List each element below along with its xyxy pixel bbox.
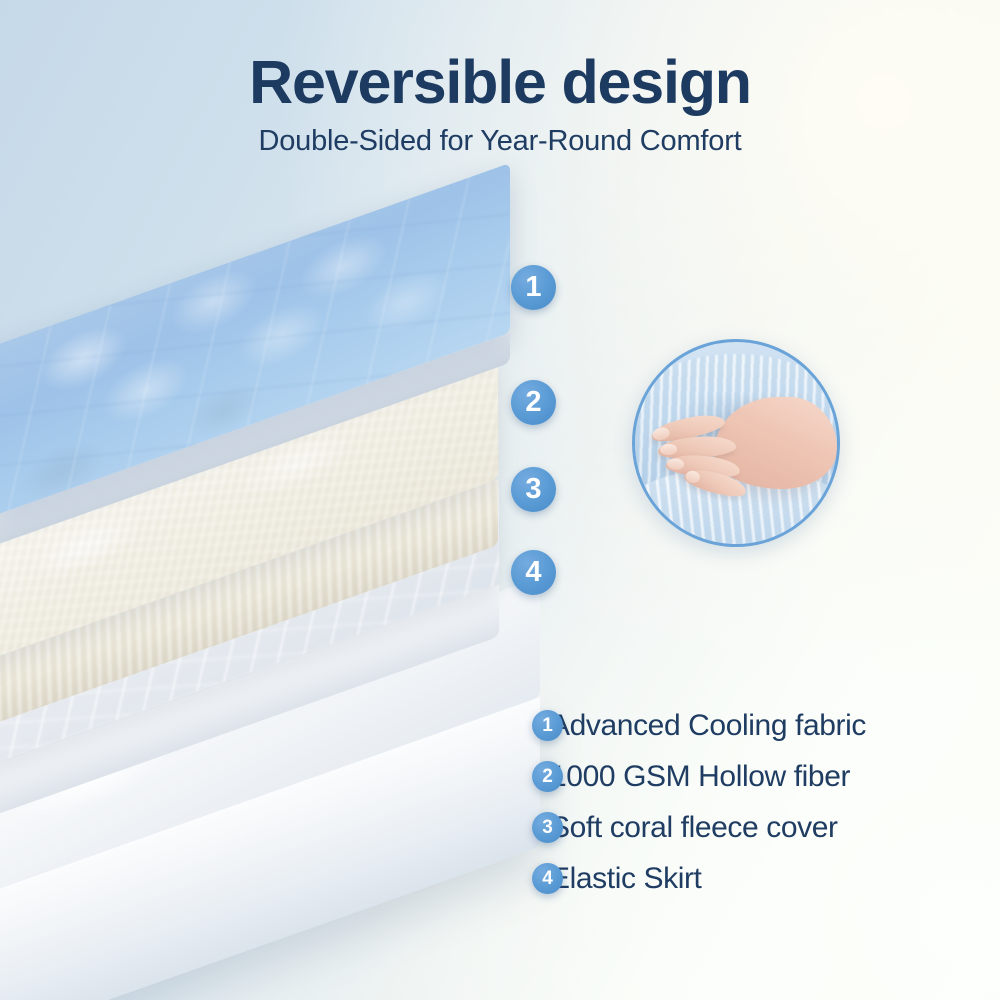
legend-label-3: Soft coral fleece cover bbox=[550, 813, 838, 843]
legend-badge-3: 3 bbox=[532, 812, 563, 843]
fingernail-icon bbox=[659, 443, 677, 456]
callout-badge-3-number: 3 bbox=[525, 475, 541, 504]
legend-item-3[interactable]: 3 Soft coral fleece cover bbox=[532, 802, 972, 853]
legend-badge-1: 1 bbox=[532, 710, 563, 741]
hand-illustration bbox=[647, 390, 833, 495]
legend-item-2[interactable]: 2 1000 GSM Hollow fiber bbox=[532, 751, 972, 802]
callout-badge-2[interactable]: 2 bbox=[511, 380, 556, 425]
hand-press-inset-photo bbox=[632, 339, 840, 547]
legend-badge-1-number: 1 bbox=[542, 716, 553, 735]
legend-list: 1 Advanced Cooling fabric 2 1000 GSM Hol… bbox=[532, 700, 972, 904]
callout-badge-1[interactable]: 1 bbox=[511, 265, 556, 310]
legend-item-4[interactable]: 4 Elastic Skirt bbox=[532, 853, 972, 904]
legend-badge-3-number: 3 bbox=[542, 818, 553, 837]
legend-badge-2: 2 bbox=[532, 761, 563, 792]
legend-badge-4: 4 bbox=[532, 863, 563, 894]
fingernail-icon bbox=[652, 426, 670, 440]
legend-badge-4-number: 4 bbox=[542, 869, 553, 888]
legend-label-2: 1000 GSM Hollow fiber bbox=[550, 762, 850, 792]
callout-badge-4-number: 4 bbox=[525, 558, 541, 587]
fingernail-icon bbox=[667, 457, 684, 470]
page-subtitle: Double-Sided for Year-Round Comfort bbox=[0, 127, 1000, 156]
product-infographic: Reversible design Double-Sided for Year-… bbox=[0, 0, 1000, 1000]
legend-label-1: Advanced Cooling fabric bbox=[550, 711, 866, 741]
callout-badge-4[interactable]: 4 bbox=[511, 550, 556, 595]
callout-badge-3[interactable]: 3 bbox=[511, 467, 556, 512]
page-title: Reversible design bbox=[0, 52, 1000, 113]
legend-label-4: Elastic Skirt bbox=[550, 864, 702, 894]
header: Reversible design Double-Sided for Year-… bbox=[0, 52, 1000, 156]
callout-badge-1-number: 1 bbox=[525, 273, 541, 302]
callout-badge-2-number: 2 bbox=[525, 388, 541, 417]
fingernail-icon bbox=[685, 470, 701, 484]
legend-item-1[interactable]: 1 Advanced Cooling fabric bbox=[532, 700, 972, 751]
legend-badge-2-number: 2 bbox=[542, 767, 553, 786]
